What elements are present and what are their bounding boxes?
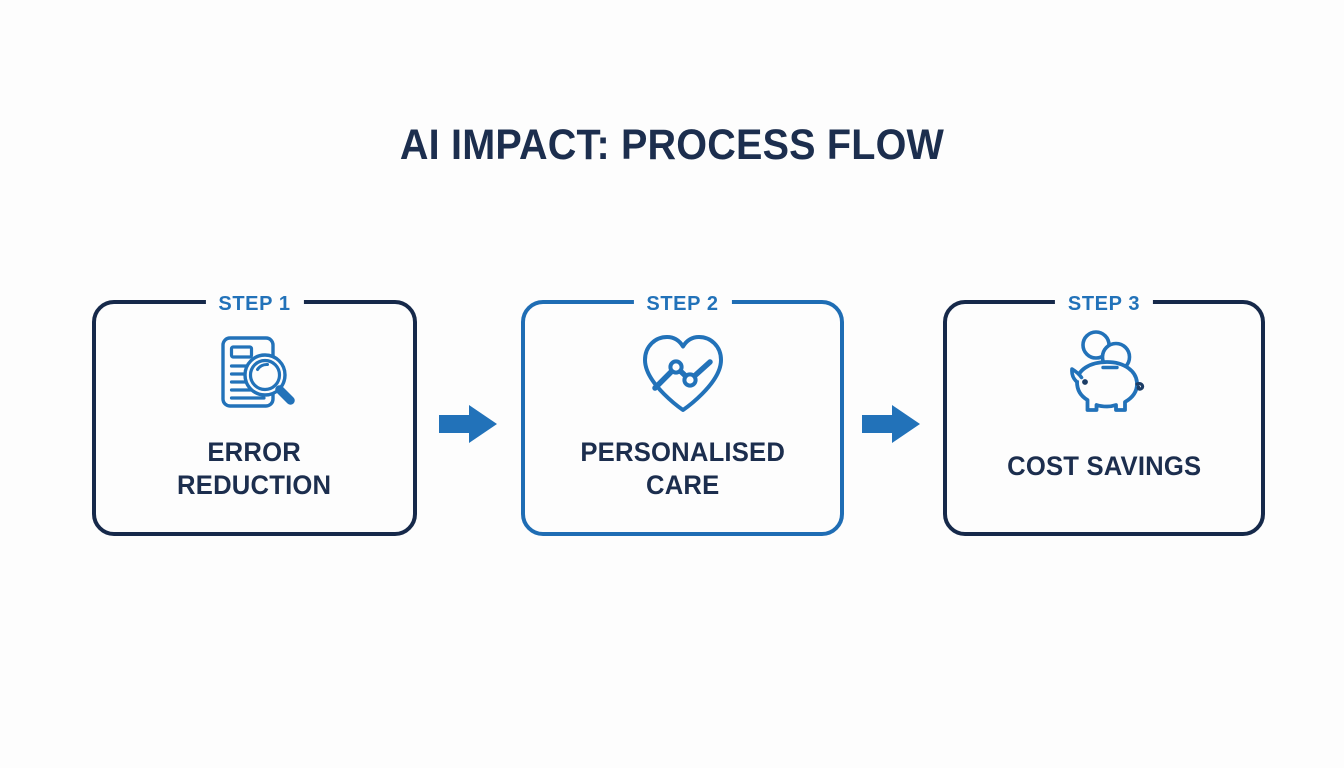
- step-2-body: PERSONALISED CARE: [525, 304, 840, 532]
- step-1-label: ERROR REDUCTION: [168, 436, 341, 502]
- step-2-label: PERSONALISED CARE: [571, 436, 795, 502]
- step-3-label: COST SAVINGS: [997, 450, 1210, 483]
- process-flow-row: STEP 1: [92, 300, 1265, 536]
- arrow-right-icon-2: [860, 402, 922, 446]
- step-card-1[interactable]: STEP 1: [92, 300, 417, 536]
- piggy-bank-icon: [1054, 326, 1154, 422]
- step-1-body: ERROR REDUCTION: [96, 304, 413, 532]
- heart-linechart-icon: [633, 326, 733, 422]
- page-title: AI IMPACT: PROCESS FLOW: [54, 118, 1290, 172]
- step-card-3[interactable]: STEP 3: [943, 300, 1265, 536]
- slide-canvas: AI IMPACT: PROCESS FLOW STEP 1: [0, 0, 1344, 768]
- document-magnifier-icon: [207, 326, 303, 422]
- arrow-right-icon-1: [437, 402, 499, 446]
- step-3-body: COST SAVINGS: [947, 304, 1261, 532]
- step-card-2[interactable]: STEP 2 PERSONALISED CARE: [521, 300, 844, 536]
